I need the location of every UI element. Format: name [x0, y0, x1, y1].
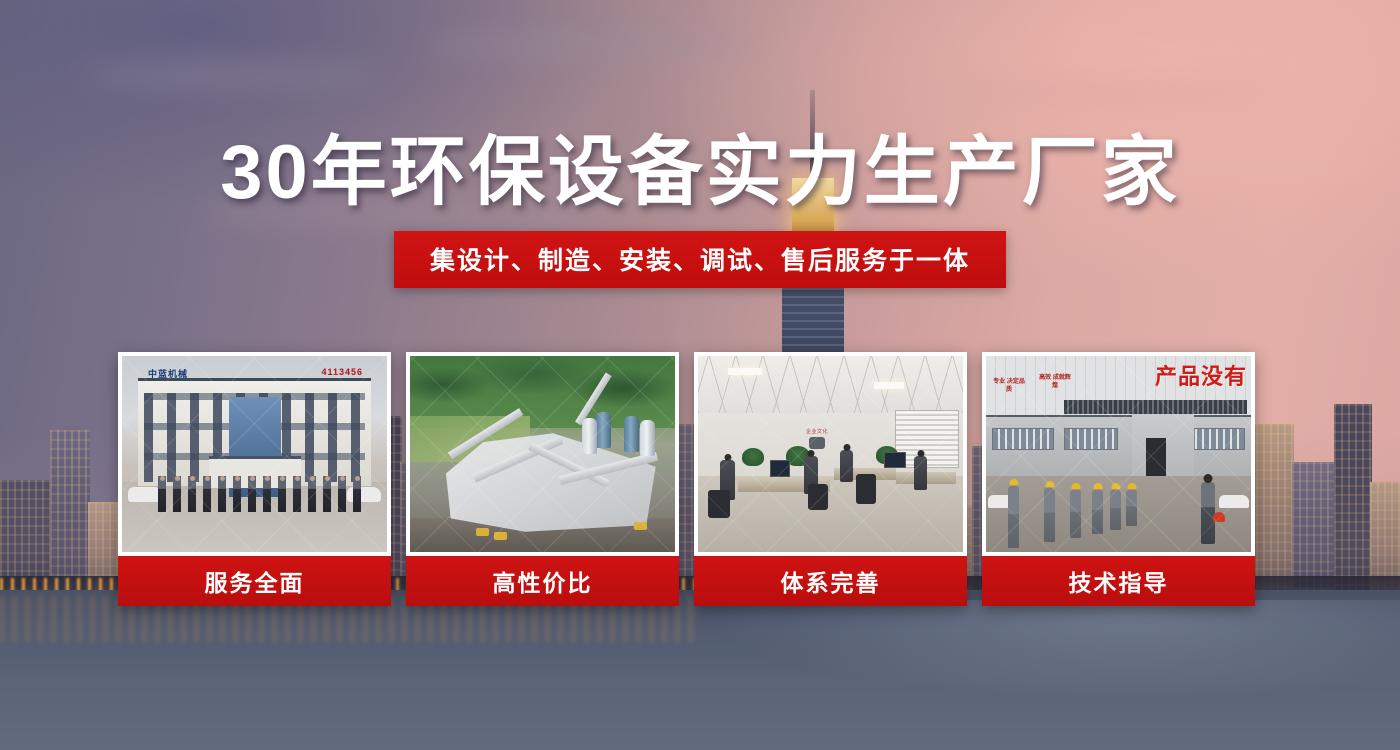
page-title: 30年环保设备实力生产厂家	[0, 131, 1400, 215]
worker	[1044, 488, 1055, 542]
building-sign-text: 中蓝机械	[148, 367, 188, 380]
card-label: 服务全面	[118, 556, 391, 606]
worker	[1070, 490, 1081, 538]
factory-wall-slogan: 产品没有	[1155, 359, 1247, 391]
feature-cards: 中蓝机械 4113456 服务全面	[118, 352, 1255, 606]
card-label: 技术指导	[982, 556, 1255, 606]
feature-card-service[interactable]: 中蓝机械 4113456 服务全面	[118, 352, 391, 606]
promotional-banner: 30年环保设备实力生产厂家 集设计、制造、安装、调试、售后服务于一体 中蓝机械 …	[0, 0, 1400, 750]
card-label: 体系完善	[694, 556, 967, 606]
cloud-1	[80, 62, 380, 88]
feature-card-value[interactable]: 高性价比	[406, 352, 679, 606]
building-phone-text: 4113456	[321, 367, 363, 377]
company-headquarters-photo: 中蓝机械 4113456	[122, 356, 387, 552]
feature-card-system[interactable]: 企业文化 体系完善	[694, 352, 967, 606]
subtitle-badge: 集设计、制造、安装、调试、售后服务于一体	[394, 231, 1006, 288]
card-label: 高性价比	[406, 556, 679, 606]
feature-card-guidance[interactable]: 产品没有 专业 决定品质 高效 成就辉煌	[982, 352, 1255, 606]
wall-slogan-mid: 高效 成就辉煌	[1038, 374, 1072, 390]
worker	[1008, 486, 1019, 548]
wall-slogan-left: 专业 决定品质	[992, 378, 1026, 394]
cloud-3	[900, 78, 1280, 108]
staff-row	[158, 476, 361, 512]
worker	[1126, 490, 1137, 526]
office-interior-photo: 企业文化	[698, 356, 963, 552]
worker	[1092, 490, 1103, 534]
worker	[1110, 490, 1121, 530]
workers-training-photo: 产品没有 专业 决定品质 高效 成就辉煌	[986, 356, 1251, 552]
aerial-production-plant-photo	[410, 356, 675, 552]
cloud-2	[420, 34, 760, 56]
supervisor	[1201, 482, 1215, 544]
subtitle-container: 集设计、制造、安装、调试、售后服务于一体	[0, 231, 1400, 288]
red-helmet	[1213, 512, 1225, 522]
water-sheen	[500, 600, 1400, 750]
